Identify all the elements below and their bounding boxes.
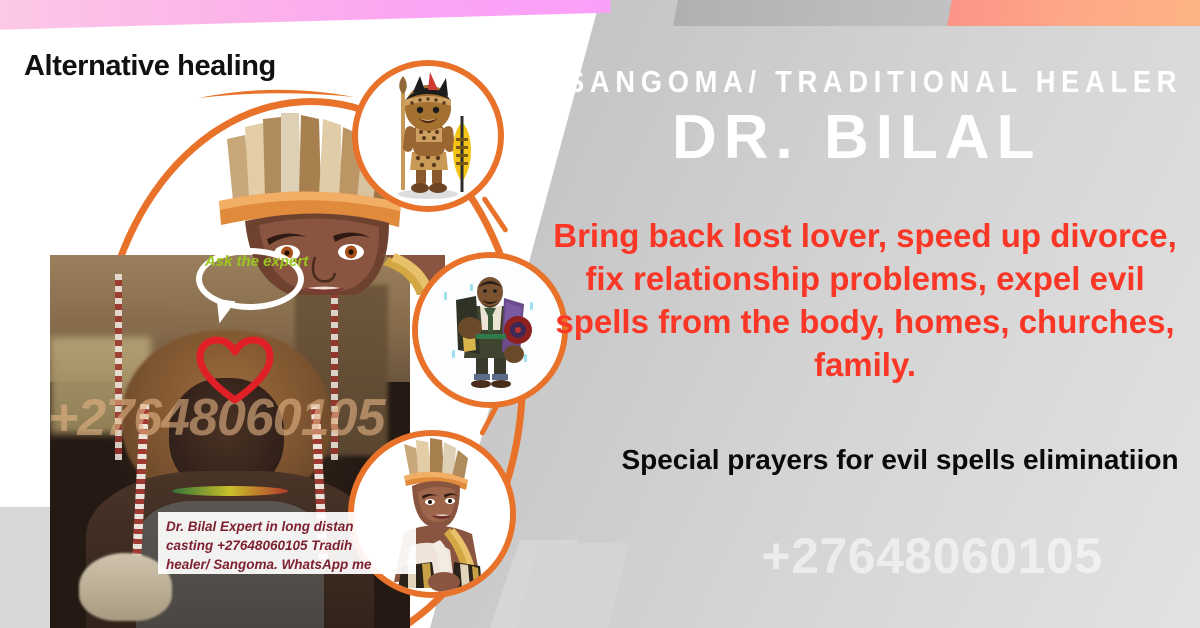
caption-line-2: casting +27648060105 Tradih xyxy=(166,536,408,555)
kicker-sangoma-traditional-healer: SANGOMA/ TRADITIONAL HEALER xyxy=(566,64,1112,100)
zulu-warrior-icon xyxy=(358,66,498,206)
caption-line-1: Dr. Bilal Expert in long distan xyxy=(166,517,408,536)
orange-accent-bar xyxy=(947,0,1200,26)
services-text: Bring back lost lover, speed up divorce,… xyxy=(540,215,1190,387)
headline-dr-bilal: DR. BILAL xyxy=(672,102,1192,173)
special-prayers-text: Special prayers for evil spells eliminat… xyxy=(610,442,1190,479)
orange-swoosh-underline xyxy=(196,86,356,100)
heart-icon xyxy=(196,336,274,406)
caption-line-3: healer/ Sangoma. WhatsApp me xyxy=(166,555,408,574)
circle-zulu-warrior xyxy=(352,60,504,212)
speech-bubble-text: Ask the expert xyxy=(204,252,309,272)
photo-caption-box: Dr. Bilal Expert in long distan casting … xyxy=(158,512,416,574)
speech-bubble-tail xyxy=(213,299,235,325)
ghost-phone-number: +27648060105 xyxy=(672,527,1192,585)
poster-canvas: Alternative healing xyxy=(0,0,1200,628)
page-title-alternative-healing: Alternative healing xyxy=(24,50,276,83)
